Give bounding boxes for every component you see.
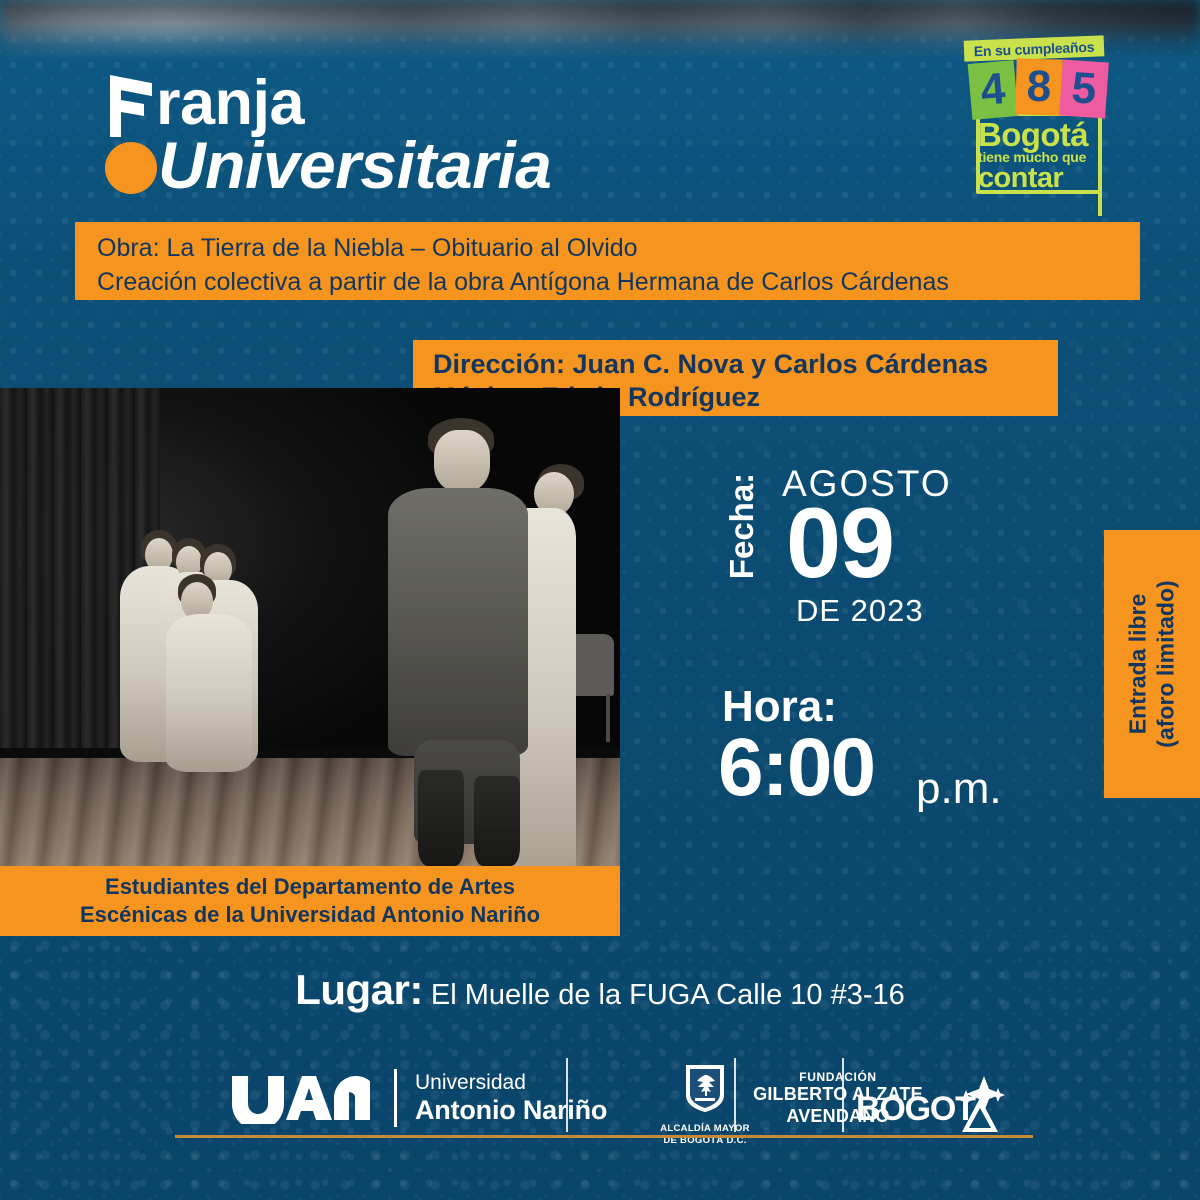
photo-officer-coat (388, 488, 528, 756)
time-value: 6:00 (718, 727, 874, 809)
production-photo (0, 388, 620, 866)
footer-divider (842, 1058, 844, 1132)
franja-f-letter-icon (108, 75, 154, 137)
footer-logos: Universidad Antonio Nariño ALCALDÍA MAYO… (0, 1052, 1200, 1162)
shield-icon (660, 1062, 750, 1119)
photo-officer-boot (418, 770, 464, 866)
photo-performer-body (166, 614, 252, 772)
work-title-band: Obra: La Tierra de la Niebla – Obituario… (75, 222, 1140, 300)
bogota-star-icon (950, 1074, 1006, 1132)
venue-label: Lugar: (295, 966, 423, 1013)
free-entry-tab: Entrada libre (aforo limitado) (1104, 530, 1200, 798)
photo-caption-line1: Estudiantes del Departamento de Artes (105, 873, 515, 901)
uan-wordmark-icon (228, 1072, 374, 1124)
uan-logo: Universidad Antonio Nariño (228, 1062, 607, 1134)
venue-value: El Muelle de la FUGA Calle 10 #3-16 (431, 979, 905, 1011)
bogota-485-birthday-logo: En su cumpleaños 4 8 5 Bogotá tiene much… (960, 34, 1112, 194)
free-entry-tab-text: Entrada libre (aforo limitado) (1124, 580, 1180, 747)
free-entry-line2: (aforo limitado) (1153, 580, 1179, 747)
birthday-digit-8: 8 (1015, 58, 1062, 115)
free-entry-line1: Entrada libre (1125, 594, 1151, 735)
brand-title: ranja Universitaria (100, 72, 720, 202)
footer-rule (175, 1135, 1033, 1138)
date-year: DE 2023 (796, 593, 924, 629)
time-period: p.m. (916, 767, 1002, 811)
photo-chair-leg (606, 694, 610, 742)
birthday-digit-4: 4 (968, 60, 1019, 120)
work-title-line1: Obra: La Tierra de la Niebla – Obituario… (97, 231, 1140, 265)
footer-divider (734, 1058, 736, 1132)
birthday-tagline-line2: contar (978, 164, 1063, 193)
credits-direction: Dirección: Juan C. Nova y Carlos Cárdena… (433, 348, 1058, 381)
birthday-ribbon-label: En su cumpleaños (973, 38, 1094, 59)
orange-dot-icon (105, 142, 157, 194)
date-label: Fecha: (723, 466, 761, 586)
birthday-digit-5: 5 (1059, 59, 1109, 118)
uan-logo-divider (394, 1069, 397, 1127)
footer-divider (566, 1058, 568, 1132)
alcaldia-line1: ALCALDÍA MAYOR (660, 1123, 750, 1135)
date-block: Fecha: AGOSTO 09 DE 2023 (700, 455, 1020, 630)
venue-line: Lugar:El Muelle de la FUGA Calle 10 #3-1… (0, 966, 1200, 1014)
brand-title-line2: Universitaria (158, 132, 551, 198)
date-day: 09 (786, 493, 894, 592)
uan-name-line2: Antonio Nariño (415, 1095, 607, 1125)
birthday-ribbon: En su cumpleaños (964, 35, 1105, 61)
uan-name: Universidad Antonio Nariño (415, 1071, 607, 1125)
photo-officer-boot (474, 776, 520, 866)
birthday-city-label: Bogotá (978, 118, 1088, 151)
birthday-number-blocks: 4 8 5 (970, 59, 1106, 117)
photo-officer-head (434, 430, 490, 492)
brand-title-line1: ranja (156, 72, 304, 135)
work-title-line2: Creación colectiva a partir de la obra A… (97, 265, 1140, 299)
time-block: Hora: 6:00 p.m. (718, 685, 1048, 815)
bogota-wordmark-logo: BOGOT (856, 1074, 996, 1134)
event-poster: ranja Universitaria En su cumpleaños 4 8… (0, 0, 1200, 1200)
photo-caption-line2: Escénicas de la Universidad Antonio Nari… (80, 901, 540, 929)
uan-name-line1: Universidad (415, 1071, 607, 1095)
photo-caption: Estudiantes del Departamento de Artes Es… (0, 866, 620, 936)
